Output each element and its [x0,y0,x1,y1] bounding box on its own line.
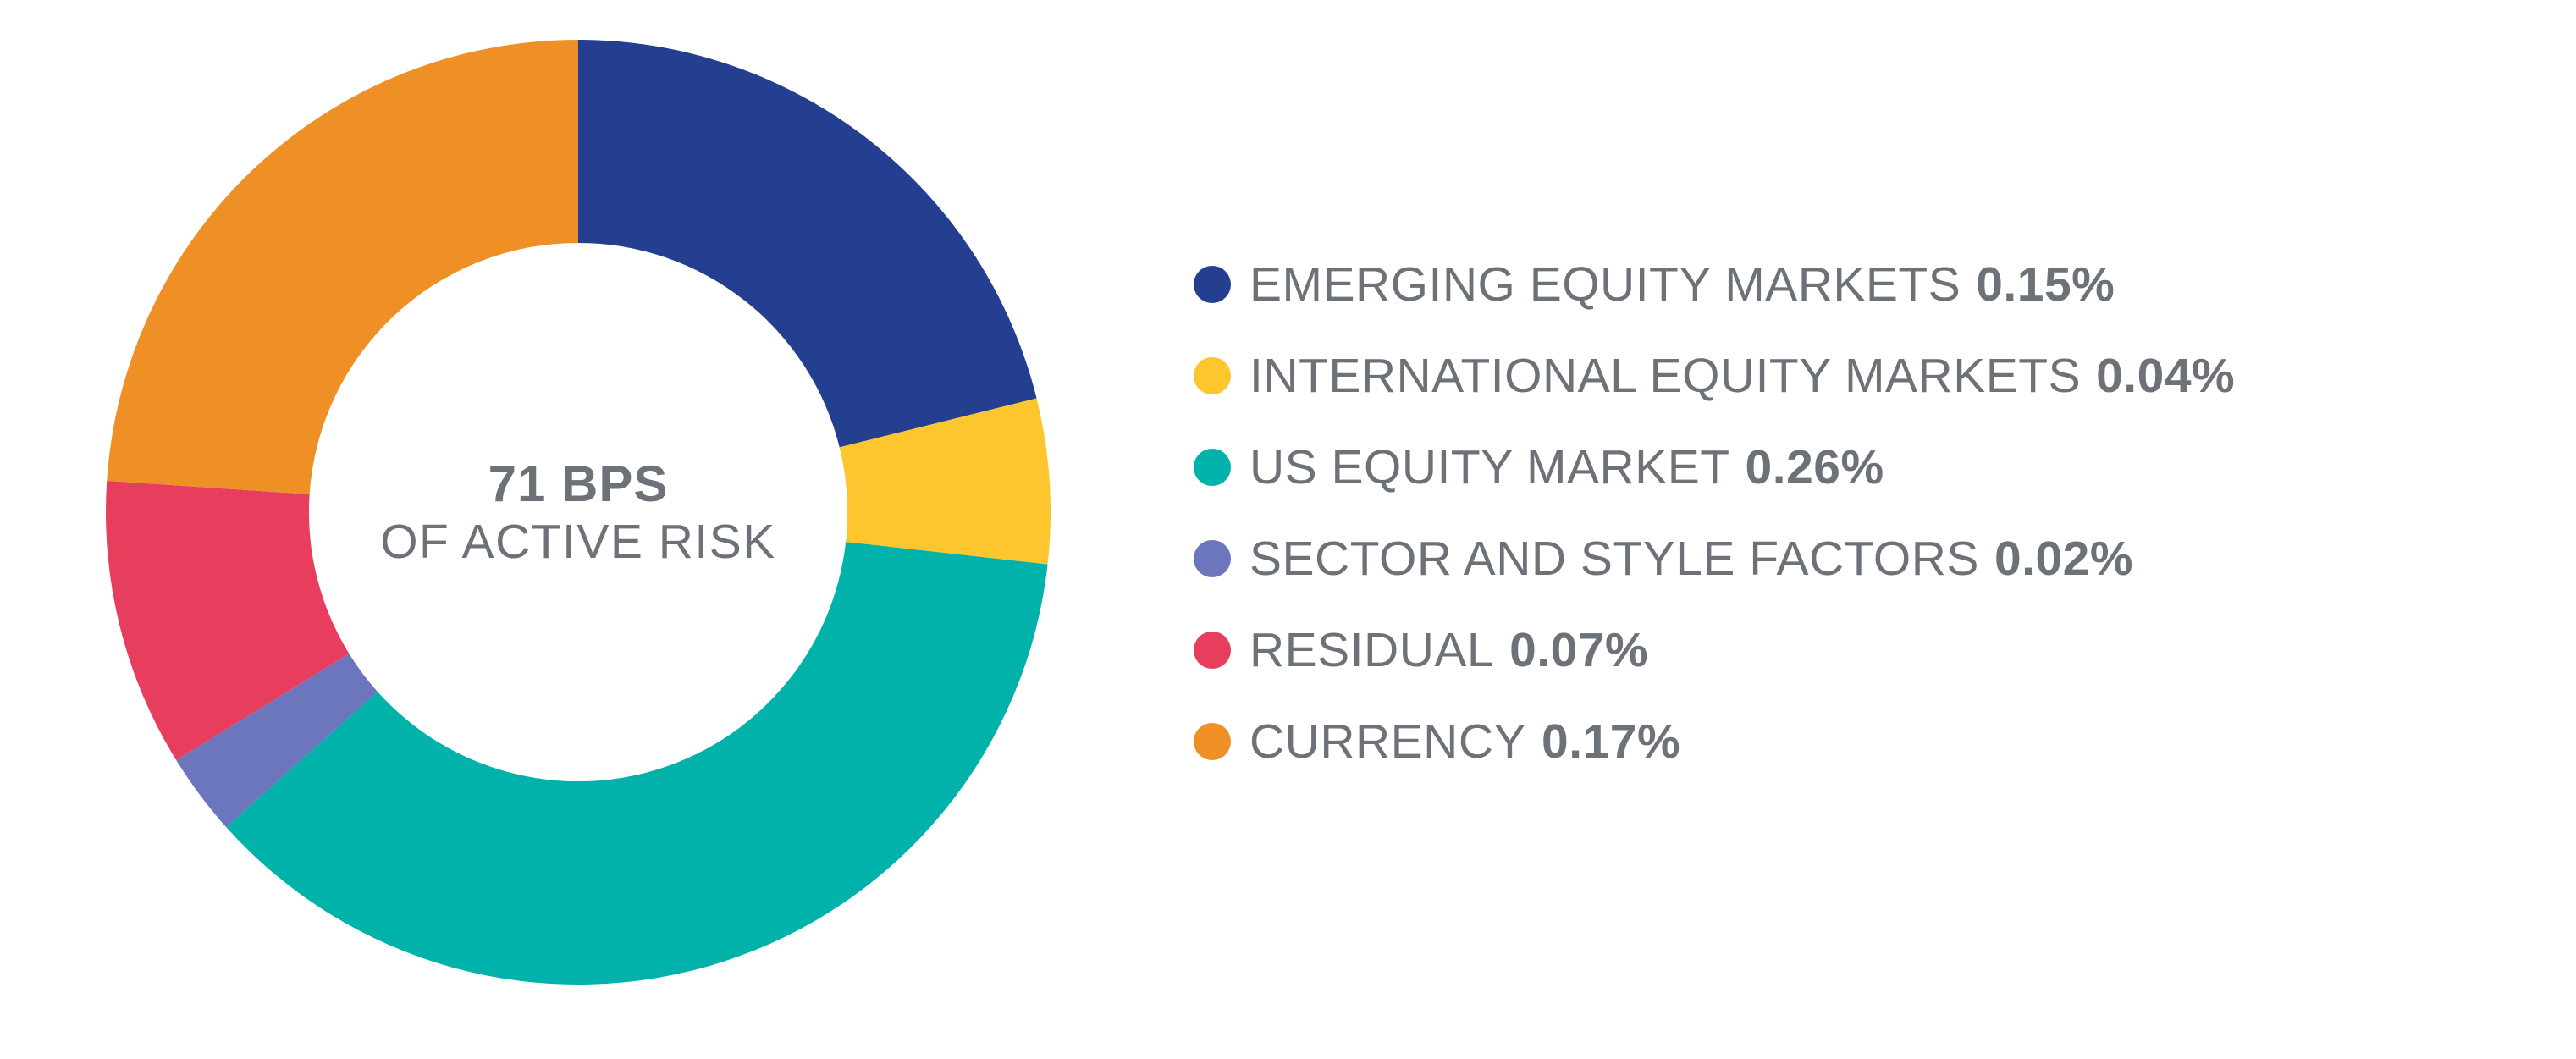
legend-value: 0.26% [1746,444,1884,492]
legend-item-residual[interactable]: RESIDUAL0.07% [1194,604,2514,696]
donut-slice-currency[interactable] [107,40,578,494]
legend-swatch-residual [1194,632,1231,669]
donut-slice-emerging-equity-markets[interactable] [578,40,1037,447]
donut-slice-group [106,40,1051,985]
legend-text: US EQUITY MARKET0.26% [1249,444,1884,492]
legend-text: SECTOR AND STYLE FACTORS0.02% [1249,535,2133,583]
legend-label: CURRENCY [1249,718,1526,766]
legend-swatch-international-equity-markets [1194,357,1231,394]
chart-legend: EMERGING EQUITY MARKETS0.15%INTERNATIONA… [1194,239,2514,787]
legend-text: EMERGING EQUITY MARKETS0.15% [1249,261,2115,309]
legend-swatch-emerging-equity-markets [1194,266,1231,303]
legend-swatch-us-equity-market [1194,449,1231,486]
legend-item-international-equity-markets[interactable]: INTERNATIONAL EQUITY MARKETS0.04% [1194,330,2514,422]
legend-value: 0.04% [2096,352,2235,400]
donut-chart: 71 BPS OF ACTIVE RISK [106,40,1051,985]
legend-item-currency[interactable]: CURRENCY0.17% [1194,696,2514,787]
legend-value: 0.15% [1976,261,2115,309]
legend-label: RESIDUAL [1249,626,1494,675]
legend-item-emerging-equity-markets[interactable]: EMERGING EQUITY MARKETS0.15% [1194,239,2514,330]
legend-text: CURRENCY0.17% [1249,718,1680,766]
legend-value: 0.07% [1509,626,1648,675]
legend-label: US EQUITY MARKET [1249,444,1730,492]
legend-item-us-equity-market[interactable]: US EQUITY MARKET0.26% [1194,422,2514,513]
donut-svg [106,40,1051,985]
legend-swatch-currency [1194,723,1231,760]
legend-value: 0.02% [1994,535,2133,583]
donut-slice-us-equity-market[interactable] [226,542,1047,985]
donut-chart-page: 71 BPS OF ACTIVE RISK EMERGING EQUITY MA… [0,0,2576,1059]
legend-label: INTERNATIONAL EQUITY MARKETS [1249,352,2081,400]
legend-value: 0.17% [1542,718,1680,766]
legend-text: RESIDUAL0.07% [1249,626,1648,675]
legend-text: INTERNATIONAL EQUITY MARKETS0.04% [1249,352,2235,400]
legend-label: EMERGING EQUITY MARKETS [1249,261,1961,309]
legend-label: SECTOR AND STYLE FACTORS [1249,535,1979,583]
legend-swatch-sector-and-style-factors [1194,540,1231,577]
legend-item-sector-and-style-factors[interactable]: SECTOR AND STYLE FACTORS0.02% [1194,513,2514,604]
